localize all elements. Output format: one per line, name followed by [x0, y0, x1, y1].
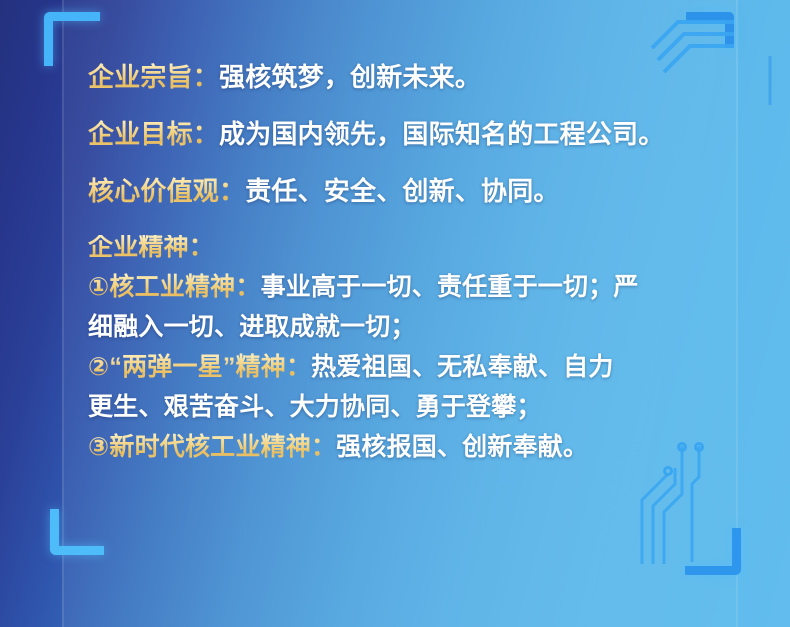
spirit-item-1-label: ①核工业精神：	[88, 273, 261, 301]
text-content-block: 企业宗旨：强核筑梦，创新未来。 企业目标：成为国内领先，国际知名的工程公司。 核…	[88, 64, 728, 467]
statement-core-values: 核心价值观：责任、安全、创新、协同。	[88, 178, 728, 204]
corner-bracket-bottom-right-icon	[685, 528, 741, 575]
spirit-item-1-text: 事业高于一切、责任重于一切；严	[261, 273, 639, 301]
statement-purpose-text: 强核筑梦，创新未来。	[219, 62, 481, 92]
spirit-item-1: ①核工业精神：事业高于一切、责任重于一切；严	[88, 267, 728, 307]
statement-purpose-label: 企业宗旨：	[88, 62, 219, 92]
spirit-item-3-text: 强核报国、创新奉献。	[336, 433, 588, 461]
spirit-item-2: ②“两弹一星”精神：热爱祖国、无私奉献、自力	[88, 347, 728, 387]
corner-bracket-bottom-left-icon	[50, 509, 104, 555]
spirit-item-3: ③新时代核工业精神：强核报国、创新奉献。	[88, 427, 728, 467]
corner-bracket-top-left-icon	[44, 12, 100, 66]
panel-seam-left	[62, 0, 64, 627]
statement-core-values-label: 核心价值观：	[88, 176, 245, 206]
statement-purpose: 企业宗旨：强核筑梦，创新未来。	[88, 64, 728, 90]
statement-core-values-text: 责任、安全、创新、协同。	[245, 176, 559, 206]
spirit-item-2-text: 热爱祖国、无私奉献、自力	[311, 353, 613, 381]
panel-seam-right	[736, 0, 738, 627]
statement-goal-text: 成为国内领先，国际知名的工程公司。	[219, 119, 664, 149]
spirit-item-3-label: ③新时代核工业精神：	[88, 433, 336, 461]
spirit-item-1-continuation: 细融入一切、进取成就一切；	[88, 307, 728, 347]
poster-canvas: 企业宗旨：强核筑梦，创新未来。 企业目标：成为国内领先，国际知名的工程公司。 核…	[0, 0, 790, 627]
corner-bracket-top-right-icon	[686, 12, 734, 48]
spirit-heading: 企业精神：	[88, 235, 728, 260]
statement-goal: 企业目标：成为国内领先，国际知名的工程公司。	[88, 121, 728, 147]
statement-goal-label: 企业目标：	[88, 119, 219, 149]
spirit-item-2-continuation: 更生、艰苦奋斗、大力协同、勇于登攀；	[88, 387, 728, 427]
spirit-item-2-label: ②“两弹一星”精神：	[88, 353, 311, 381]
